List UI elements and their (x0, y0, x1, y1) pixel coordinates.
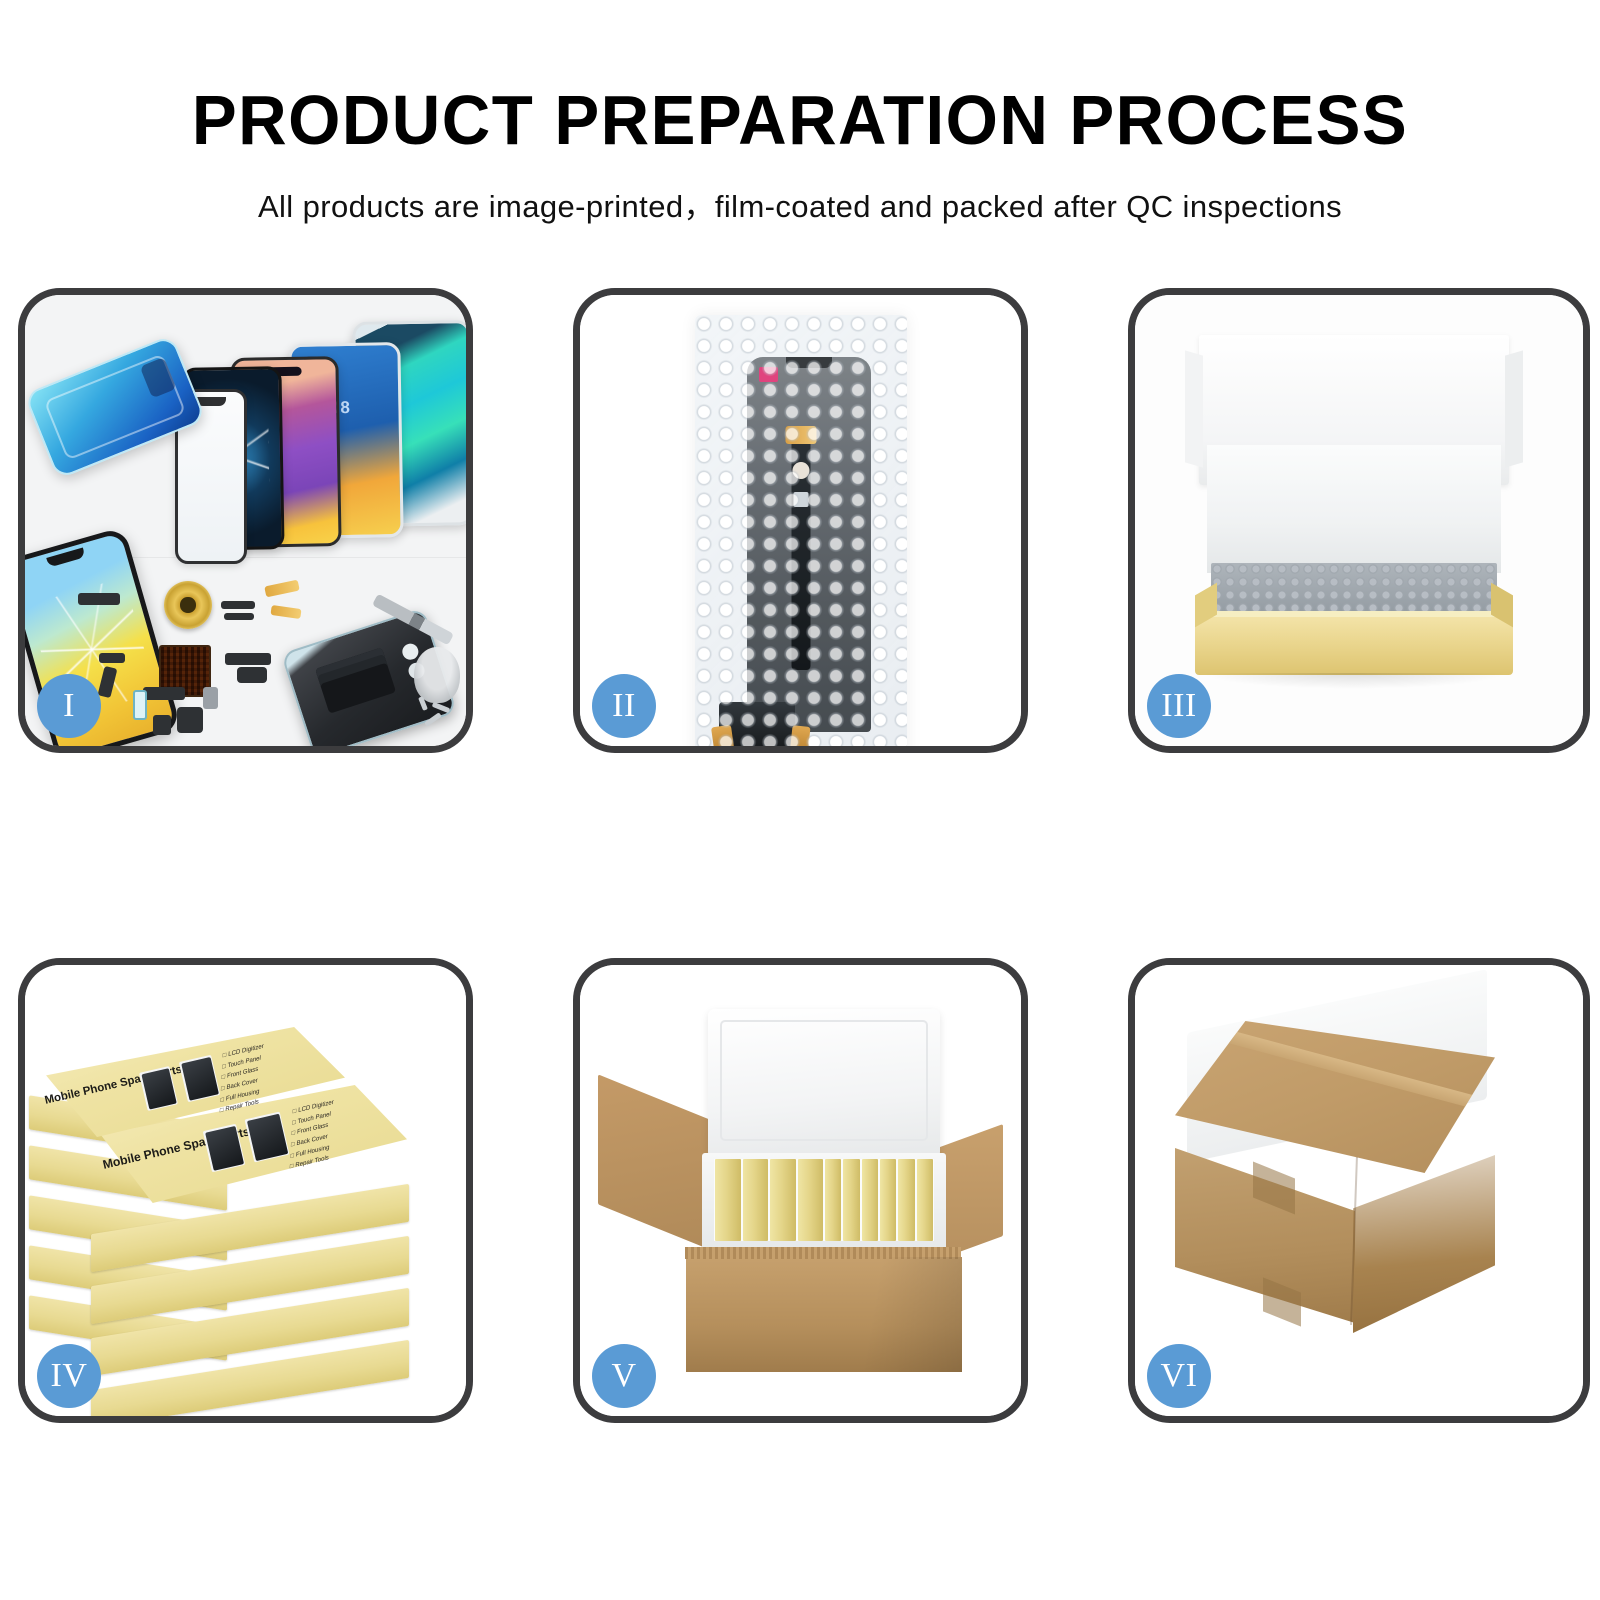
header: PRODUCT PREPARATION PROCESS All products… (0, 0, 1600, 226)
step-panel-4[interactable]: Mobile Phone Spare Parts LCD Digitizer T… (18, 958, 473, 1423)
phone-parts-collage-icon: 08:08Tue 18 Jan (25, 295, 466, 746)
box-checklist-back: LCD Digitizer Touch Panel Front Glass Ba… (220, 1042, 264, 1118)
step-panel-3[interactable]: III (1128, 288, 1590, 753)
step-panel-2[interactable]: II (573, 288, 1028, 753)
step-panel-6[interactable]: VI (1128, 958, 1590, 1423)
sealed-shipping-carton-icon (1135, 965, 1583, 1416)
bubble-wrapped-screen-icon (580, 295, 1021, 746)
step-badge-5: V (592, 1344, 656, 1408)
step-panel-5[interactable]: V (573, 958, 1028, 1423)
step-badge-3: III (1147, 674, 1211, 738)
step-panel-1[interactable]: 08:08Tue 18 Jan (18, 288, 473, 753)
box-checklist-front: LCD Digitizer Touch Panel Front Glass Ba… (290, 1098, 334, 1174)
open-retail-box-icon (1135, 295, 1583, 746)
stacked-boxes-icon: Mobile Phone Spare Parts LCD Digitizer T… (25, 965, 466, 1416)
page-subtitle: All products are image-printed，film-coat… (0, 181, 1600, 226)
step-badge-6: VI (1147, 1344, 1211, 1408)
step-badge-1: I (37, 674, 101, 738)
page-title: PRODUCT PREPARATION PROCESS (32, 85, 1568, 155)
step-badge-2: II (592, 674, 656, 738)
product-preparation-infographic: PRODUCT PREPARATION PROCESS All products… (0, 0, 1600, 1600)
steps-grid: 08:08Tue 18 Jan (18, 288, 1588, 1463)
carton-with-foam-icon (580, 965, 1021, 1416)
step-badge-4: IV (37, 1344, 101, 1408)
